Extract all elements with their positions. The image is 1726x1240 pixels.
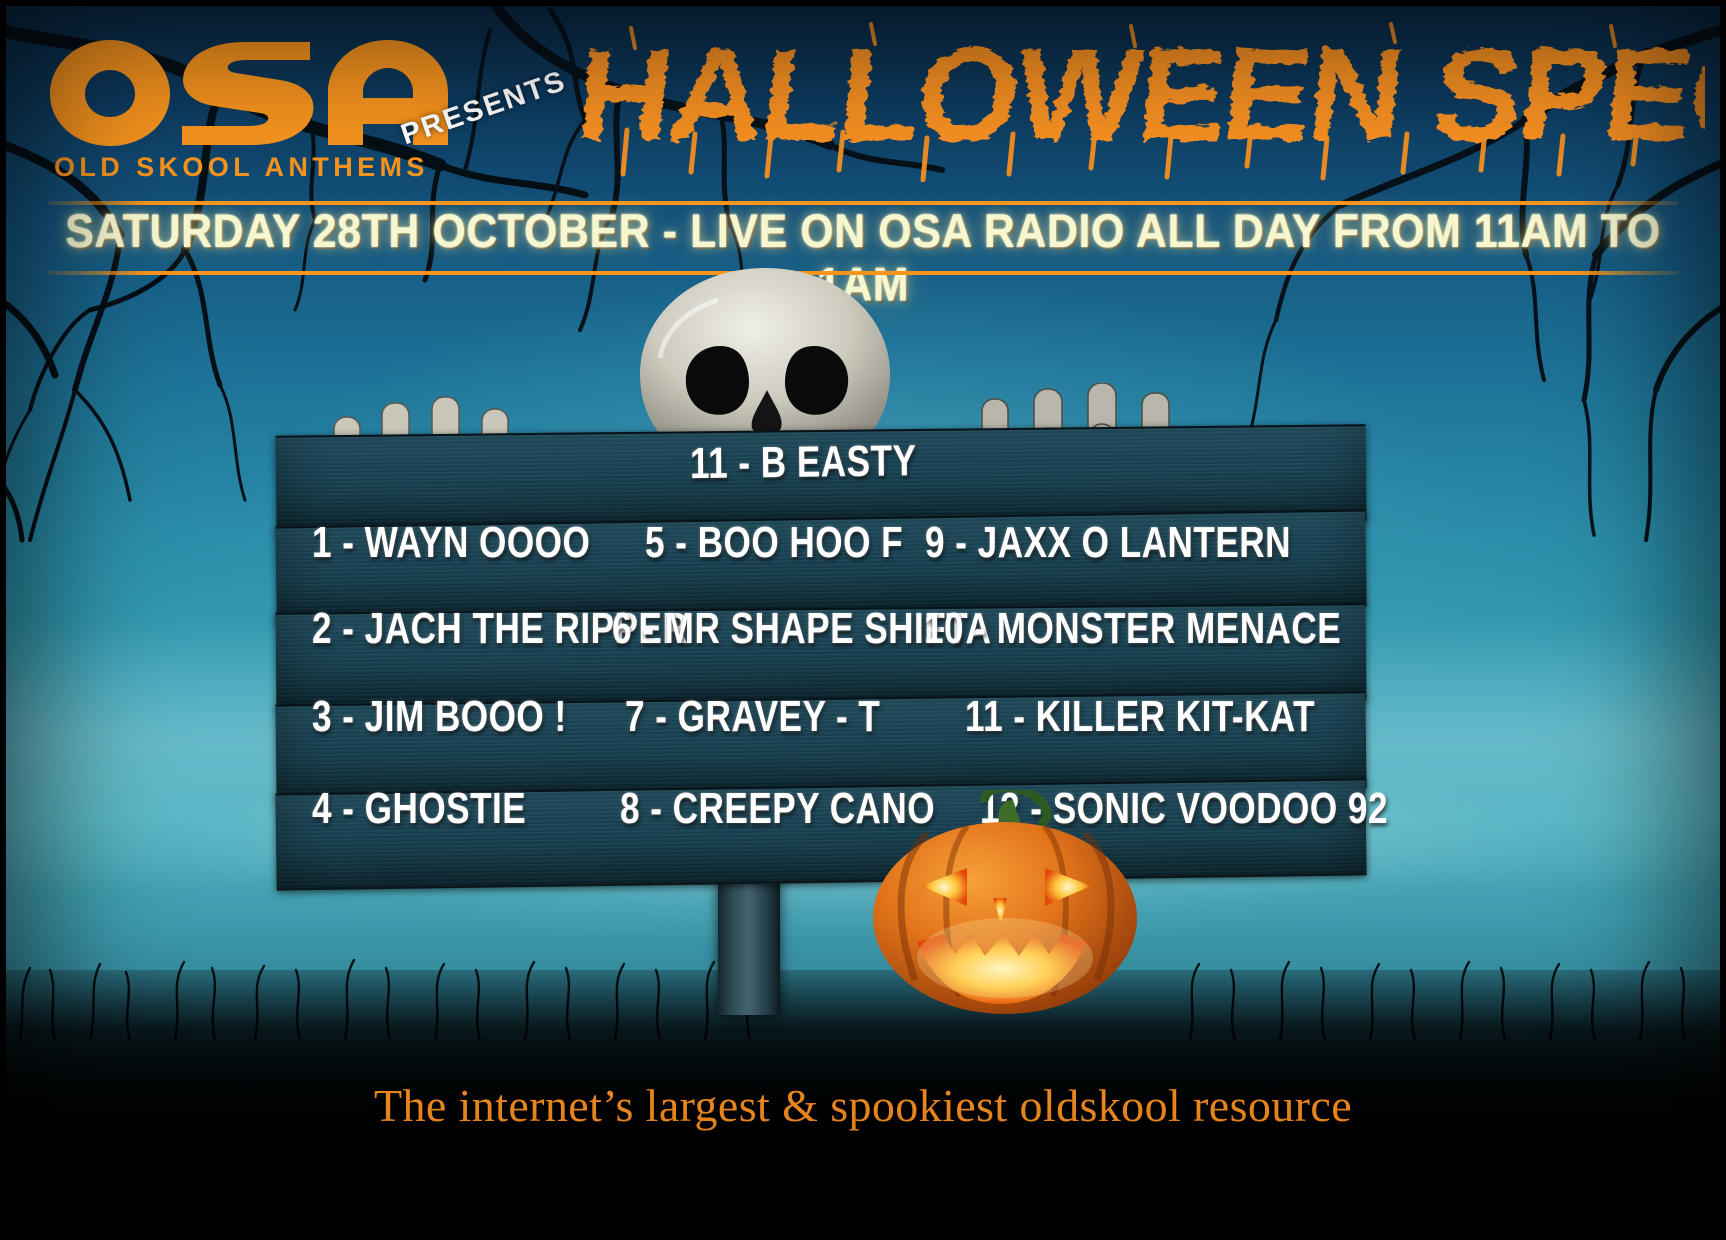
lineup-item: 7 - GRAVEY - T bbox=[625, 692, 880, 742]
halloween-special-grunge-text-icon: HALLOWEEN SPECIAL bbox=[575, 22, 1705, 182]
lineup-item: 9 - JAXX O LANTERN bbox=[925, 518, 1291, 568]
lineup-item: 1 - WAYN OOOO bbox=[312, 518, 590, 568]
footer-tagline: The internet’s largest & spookiest oldsk… bbox=[0, 1079, 1726, 1132]
osa-logo[interactable]: OLD SKOOL ANTHEMS bbox=[48, 38, 468, 183]
osa-logo-subtitle: OLD SKOOL ANTHEMS bbox=[54, 152, 468, 183]
lineup-item: 3 - JIM BOOO ! bbox=[312, 692, 567, 742]
lineup-item: 5 - BOO HOO F bbox=[645, 518, 903, 568]
lineup-item: 10 - MONSTER MENACE bbox=[924, 604, 1341, 654]
jack-o-lantern-icon bbox=[835, 790, 1175, 1020]
lineup-item: 11 - KILLER KIT-KAT bbox=[965, 692, 1315, 742]
title-text: HALLOWEEN SPECIAL bbox=[575, 22, 1705, 169]
lineup-featured: 11 - B EASTY bbox=[690, 436, 917, 489]
lineup-item: 4 - GHOSTIE bbox=[312, 784, 526, 834]
halloween-poster: OLD SKOOL ANTHEMS PRESENTS HALLOWEEN SPE… bbox=[0, 0, 1726, 1240]
main-title: HALLOWEEN SPECIAL bbox=[575, 22, 1705, 182]
